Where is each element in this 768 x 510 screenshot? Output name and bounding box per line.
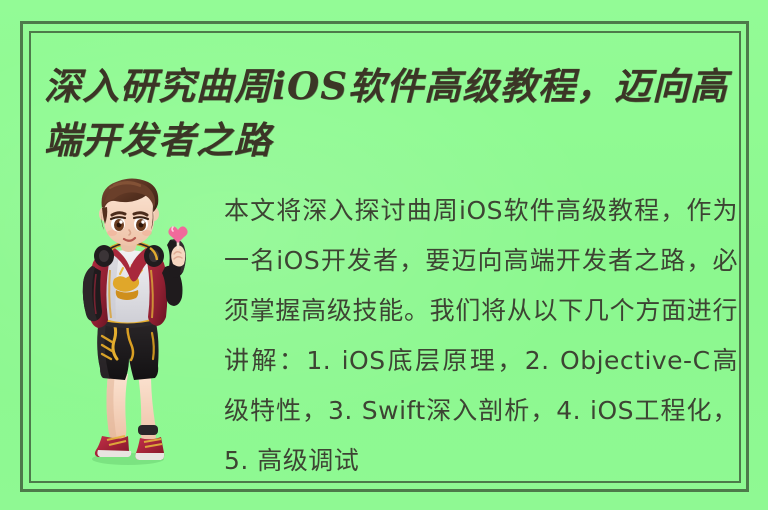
shoes	[95, 425, 164, 460]
page-title: 深入研究曲周iOS软件高级教程，迈向高端开发者之路	[44, 59, 744, 167]
character-illustration	[66, 178, 196, 468]
body-paragraph: 本文将深入探讨曲周iOS软件高级教程，作为一名iOS开发者，要迈向高端开发者之路…	[224, 186, 738, 486]
poster-canvas: 深入研究曲周iOS软件高级教程，迈向高端开发者之路 本文将深入探讨曲周iOS软件…	[0, 0, 768, 510]
head	[99, 179, 159, 247]
shorts	[97, 316, 158, 380]
